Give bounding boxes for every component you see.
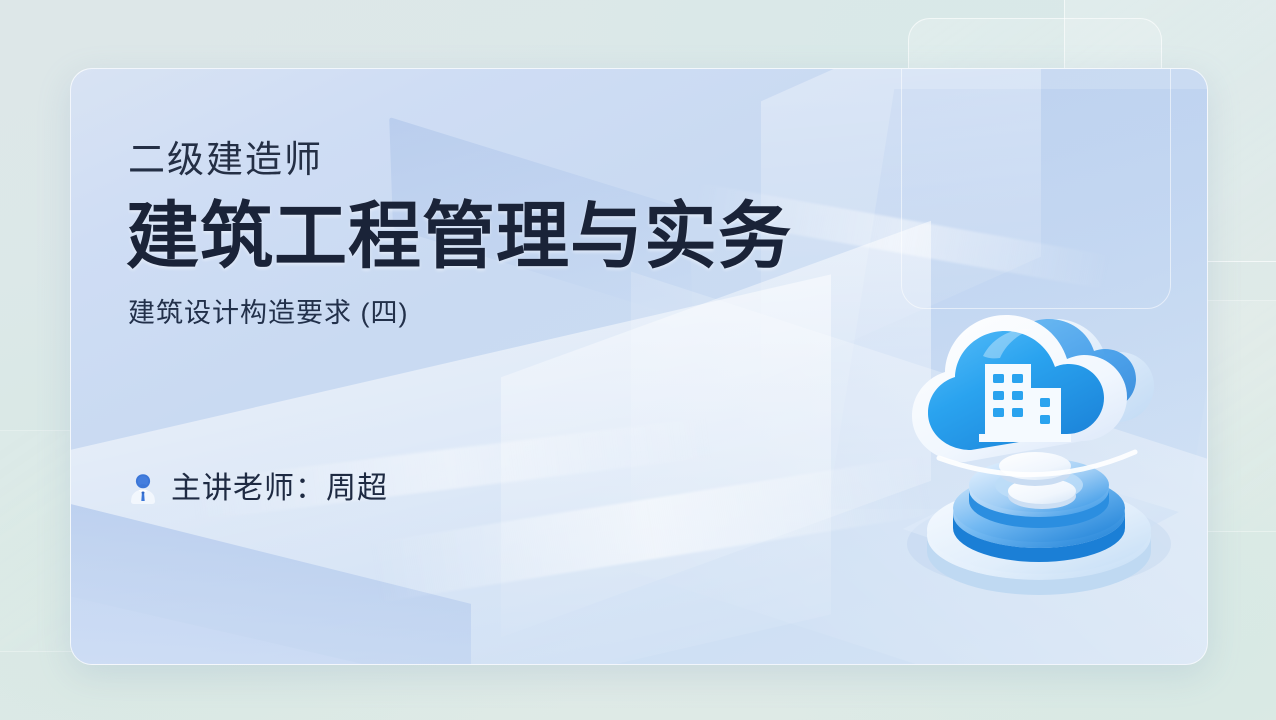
decorative-highlight-line-a	[370, 456, 932, 603]
decorative-outline-top-right	[901, 68, 1171, 309]
instructor-label: 主讲老师：周超	[171, 474, 388, 504]
page-title: 建筑工程管理与实务	[126, 200, 846, 274]
decorative-plane-bottom-left-edge	[70, 564, 361, 665]
title-card: 二级建造师 建筑工程管理与实务 建筑设计构造要求 (四) 主讲老师：周超	[70, 68, 1208, 665]
slide-canvas: 二级建造师 建筑工程管理与实务 建筑设计构造要求 (四) 主讲老师：周超	[0, 0, 1276, 720]
course-category-label: 二级建造师	[128, 141, 846, 178]
title-text-block: 二级建造师 建筑工程管理与实务 建筑设计构造要求 (四)	[126, 141, 846, 327]
decorative-plane-right-wall	[828, 89, 1208, 509]
chapter-subtitle: 建筑设计构造要求 (四)	[128, 300, 846, 327]
instructor-row: 主讲老师：周超	[128, 472, 388, 506]
decorative-plane-lower-right	[631, 272, 1208, 665]
decorative-plane-lower-sweep	[70, 274, 831, 665]
cloud-building-3d-icon	[879, 244, 1199, 644]
person-avatar-icon	[128, 472, 158, 506]
